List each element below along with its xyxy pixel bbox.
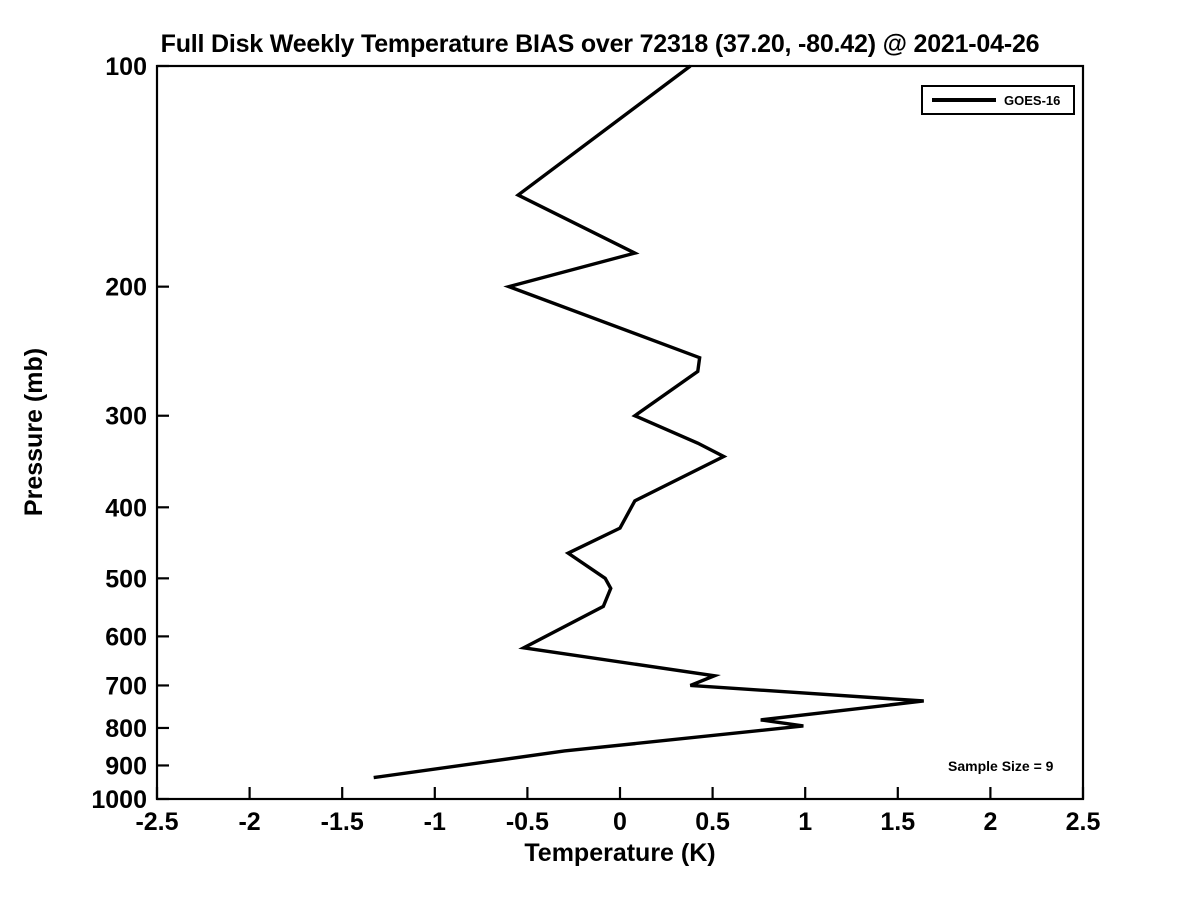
- y-tick-label: 500: [105, 565, 147, 593]
- sample-size-annotation: Sample Size = 9: [948, 758, 1054, 774]
- y-axis-title: Pressure (mb): [20, 348, 48, 516]
- x-tick-label: 2.5: [1066, 808, 1101, 836]
- x-tick-label: 2: [983, 808, 997, 836]
- x-tick-label: -2: [238, 808, 260, 836]
- x-tick-label: -1: [424, 808, 446, 836]
- legend-label-goes16: GOES-16: [1004, 93, 1060, 108]
- x-tick-label: 0.5: [695, 808, 730, 836]
- x-axis-ticks: [157, 787, 1083, 799]
- y-tick-label: 1000: [91, 786, 147, 814]
- chart-legend[interactable]: GOES-16: [922, 86, 1074, 114]
- y-tick-label: 900: [105, 752, 147, 780]
- plot-frame: [157, 66, 1083, 799]
- y-axis-ticks: [157, 66, 169, 799]
- data-series-line: [374, 66, 924, 778]
- chart-figure: Full Disk Weekly Temperature BIAS over 7…: [0, 0, 1200, 900]
- plot-area: -2.5-2-1.5-1-0.500.511.522.5 10020030040…: [0, 0, 1200, 900]
- x-axis-tick-labels: -2.5-2-1.5-1-0.500.511.522.5: [135, 808, 1100, 836]
- y-tick-label: 800: [105, 715, 147, 743]
- x-tick-label: 0: [613, 808, 627, 836]
- y-axis-tick-labels: 1002003004005006007008009001000: [91, 53, 147, 814]
- y-tick-label: 700: [105, 672, 147, 700]
- x-tick-label: 1: [798, 808, 812, 836]
- y-tick-label: 200: [105, 274, 147, 302]
- x-axis-title: Temperature (K): [524, 839, 715, 867]
- y-tick-label: 600: [105, 623, 147, 651]
- y-tick-label: 300: [105, 403, 147, 431]
- y-tick-label: 100: [105, 53, 147, 81]
- y-tick-label: 400: [105, 494, 147, 522]
- x-tick-label: -1.5: [321, 808, 364, 836]
- x-tick-label: -0.5: [506, 808, 549, 836]
- x-tick-label: 1.5: [880, 808, 915, 836]
